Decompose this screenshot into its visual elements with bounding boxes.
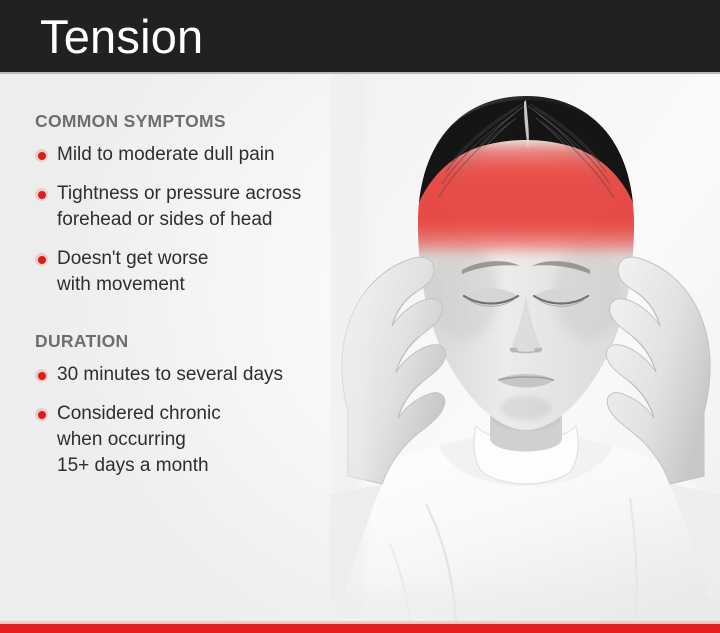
list-item-text: Tightness or pressure across forehead or… — [57, 181, 395, 233]
tension-headache-infographic: COMMON SYMPTOMS Mild to moderate dull pa… — [0, 0, 720, 633]
list-item: Mild to moderate dull pain — [35, 142, 395, 168]
accent-bar — [0, 624, 720, 633]
bullet-dot-icon — [35, 149, 48, 162]
section-heading-common-symptoms: COMMON SYMPTOMS — [35, 110, 395, 132]
list-item: Doesn't get worse with movement — [35, 246, 395, 298]
list-item-text: 30 minutes to several days — [57, 362, 395, 388]
section-heading-duration: DURATION — [35, 330, 395, 352]
list-item-text: Considered chronic when occurring 15+ da… — [57, 401, 395, 479]
section-common-symptoms: COMMON SYMPTOMS Mild to moderate dull pa… — [35, 110, 395, 298]
bullet-dot-icon — [35, 253, 48, 266]
section-duration: DURATION 30 minutes to several days Cons… — [35, 330, 395, 479]
list-item: Considered chronic when occurring 15+ da… — [35, 401, 395, 479]
bullet-dot-icon — [35, 188, 48, 201]
duration-list: 30 minutes to several days Considered ch… — [35, 362, 395, 479]
list-item-text: Doesn't get worse with movement — [57, 246, 395, 298]
bullet-dot-icon — [35, 408, 48, 421]
page-title: Tension — [40, 6, 203, 68]
list-item: 30 minutes to several days — [35, 362, 395, 388]
list-item-text: Mild to moderate dull pain — [57, 142, 395, 168]
symptom-list: Mild to moderate dull pain Tightness or … — [35, 142, 395, 298]
header-divider — [0, 72, 720, 74]
list-item: Tightness or pressure across forehead or… — [35, 181, 395, 233]
bullet-dot-icon — [35, 369, 48, 382]
header-bar: Tension — [0, 0, 720, 72]
